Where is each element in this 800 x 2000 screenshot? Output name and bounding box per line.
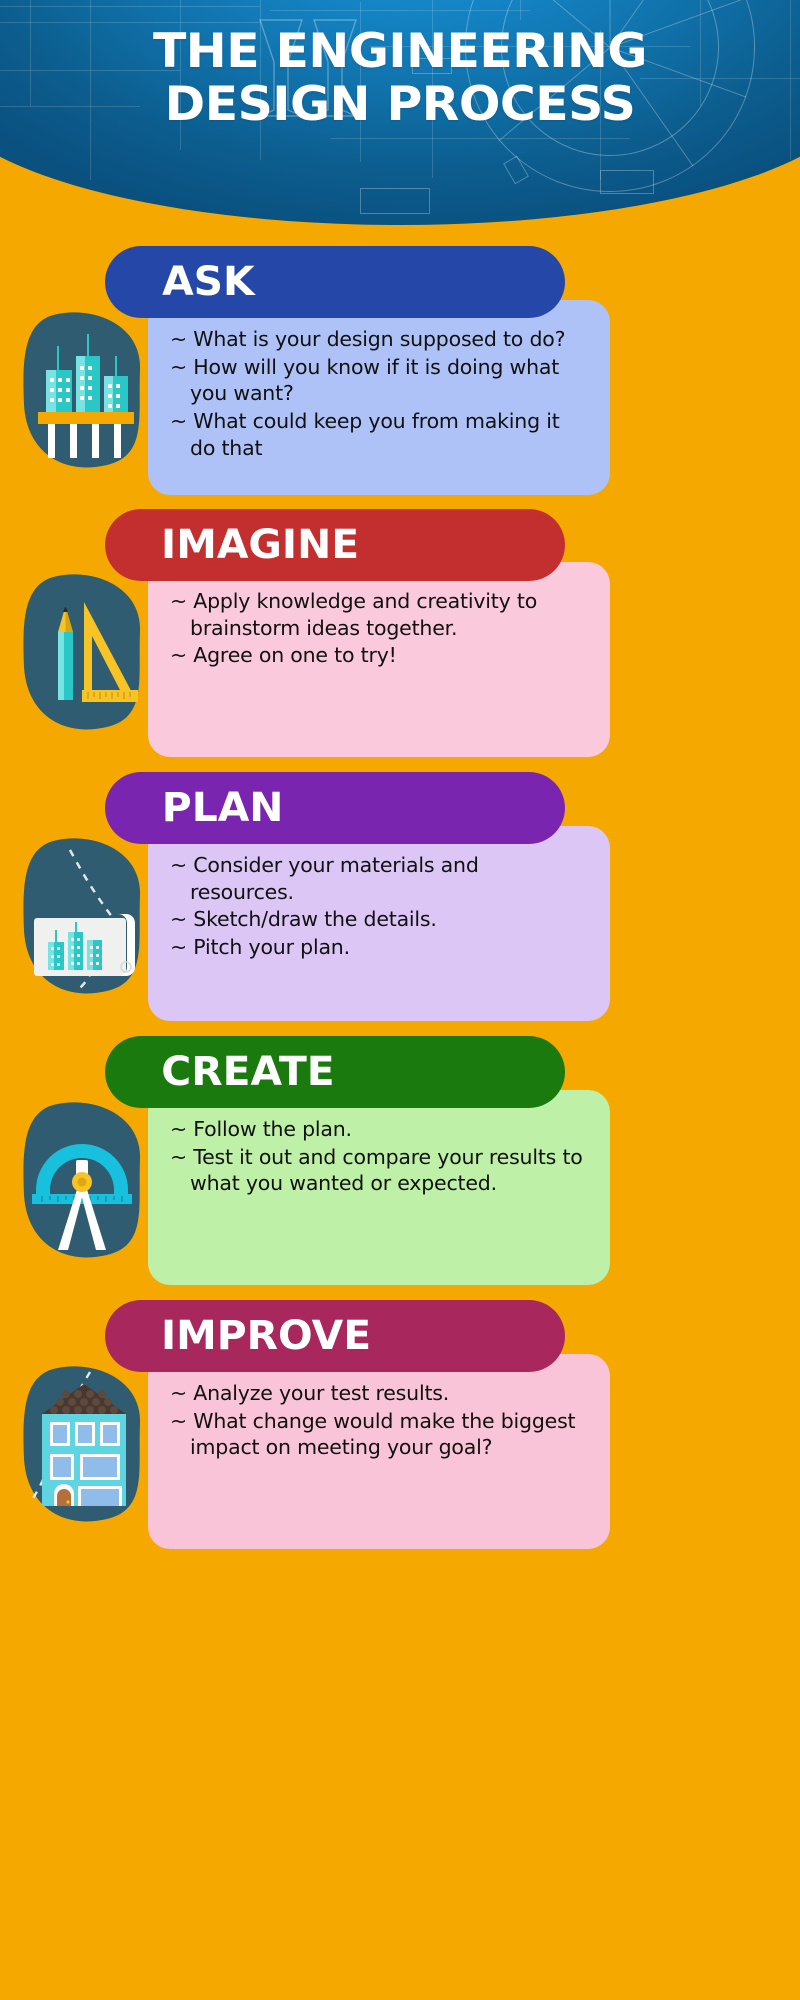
step-improve-icon-wrap	[18, 1362, 158, 1532]
step-imagine-list: ~ Apply knowledge and creativity to brai…	[170, 588, 584, 669]
step-improve-panel: ~ Analyze your test results. ~ What chan…	[148, 1354, 610, 1549]
step-ask-header[interactable]: ASK	[105, 246, 565, 318]
step-plan-label: PLAN	[162, 788, 284, 828]
list-item: ~ Analyze your test results.	[170, 1380, 584, 1407]
list-item: ~ What change would make the biggest imp…	[170, 1408, 584, 1461]
list-item: ~ Agree on one to try!	[170, 642, 584, 669]
header-banner: THE ENGINEERING DESIGN PROCESS	[0, 0, 800, 225]
city-bridge-icon	[18, 308, 158, 478]
step-ask-label: ASK	[162, 262, 255, 302]
step-plan-list: ~ Consider your materials and resources.…	[170, 852, 584, 961]
step-ask-panel: ~ What is your design supposed to do? ~ …	[148, 300, 610, 495]
step-plan-icon-wrap	[18, 834, 158, 1004]
step-imagine-header[interactable]: IMAGINE	[105, 509, 565, 581]
step-ask-list: ~ What is your design supposed to do? ~ …	[170, 326, 584, 461]
list-item: ~ What is your design supposed to do?	[170, 326, 584, 353]
step-create-label: CREATE	[161, 1052, 334, 1092]
list-item: ~ How will you know if it is doing what …	[170, 354, 584, 407]
list-item: ~ Follow the plan.	[170, 1116, 584, 1143]
list-item: ~ Apply knowledge and creativity to brai…	[170, 588, 584, 641]
step-imagine-panel: ~ Apply knowledge and creativity to brai…	[148, 562, 610, 757]
step-plan-header[interactable]: PLAN	[105, 772, 565, 844]
step-create-list: ~ Follow the plan. ~ Test it out and com…	[170, 1116, 584, 1197]
list-item: ~ Test it out and compare your results t…	[170, 1144, 584, 1197]
step-imagine-label: IMAGINE	[161, 525, 359, 565]
step-create-icon-wrap	[18, 1098, 158, 1268]
house-icon	[18, 1362, 158, 1532]
list-item: ~ Consider your materials and resources.	[170, 852, 584, 905]
page-title-line2: DESIGN PROCESS	[0, 79, 800, 132]
step-create-panel: ~ Follow the plan. ~ Test it out and com…	[148, 1090, 610, 1285]
list-item: ~ What could keep you from making it do …	[170, 408, 584, 461]
step-improve-list: ~ Analyze your test results. ~ What chan…	[170, 1380, 584, 1461]
list-item: ~ Pitch your plan.	[170, 934, 584, 961]
page-title-line1: THE ENGINEERING	[153, 24, 647, 79]
page-title: THE ENGINEERING DESIGN PROCESS	[0, 26, 800, 131]
list-item: ~ Sketch/draw the details.	[170, 906, 584, 933]
step-create-header[interactable]: CREATE	[105, 1036, 565, 1108]
step-ask-icon-wrap	[18, 308, 158, 478]
step-improve-header[interactable]: IMPROVE	[105, 1300, 565, 1372]
step-plan-panel: ~ Consider your materials and resources.…	[148, 826, 610, 1021]
blueprint-scroll-icon	[18, 834, 158, 1004]
pencil-ruler-icon	[18, 570, 158, 740]
compass-protractor-icon	[18, 1098, 158, 1268]
step-imagine-icon-wrap	[18, 570, 158, 740]
step-improve-label: IMPROVE	[161, 1316, 371, 1356]
